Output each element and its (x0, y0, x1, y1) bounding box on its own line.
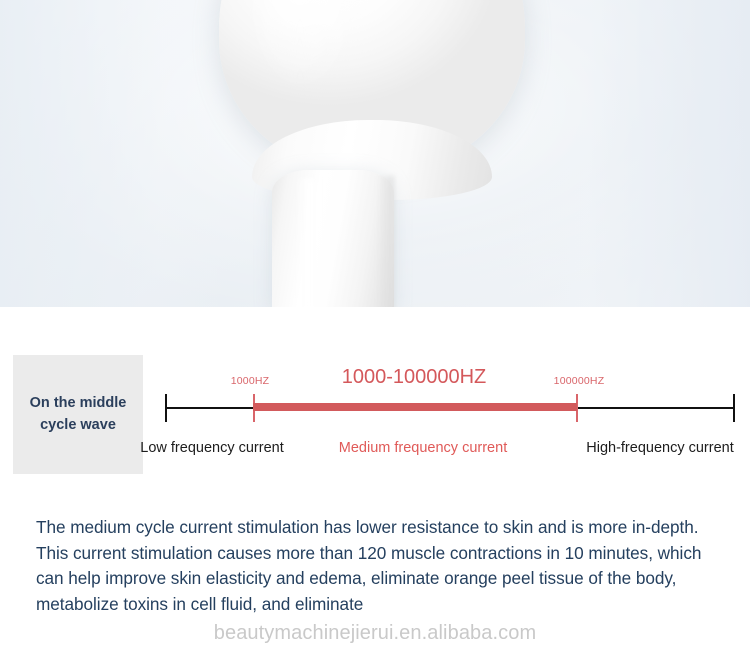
product-photo (0, 0, 750, 307)
tick-label-low: 1000HZ (231, 375, 270, 387)
axis-end-tick-right (733, 394, 735, 422)
frequency-range-headline: 1000-100000HZ (342, 366, 487, 389)
category-high-frequency: High-frequency current (586, 438, 734, 459)
axis-end-tick-left (165, 394, 167, 422)
category-medium-frequency: Medium frequency current (339, 438, 507, 459)
diagram-label-box: On the middle cycle wave (13, 355, 143, 474)
device-handle-highlight (296, 178, 322, 307)
device-handle-shaft (272, 170, 394, 307)
device-handle-edge-shadow (378, 176, 394, 307)
description-paragraph: The medium cycle current stimulation has… (36, 515, 720, 618)
medium-frequency-highlight-bar (253, 403, 577, 411)
photo-right-shading (500, 0, 750, 307)
category-low-frequency: Low frequency current (140, 438, 283, 459)
tick-label-high: 100000HZ (554, 375, 605, 387)
frequency-diagram: On the middle cycle wave 1000-100000HZ 1… (0, 307, 750, 507)
watermark: beautymachinejierui.en.alibaba.com (0, 622, 750, 645)
diagram-label-text: On the middle cycle wave (13, 393, 143, 435)
photo-left-shading (0, 0, 230, 307)
